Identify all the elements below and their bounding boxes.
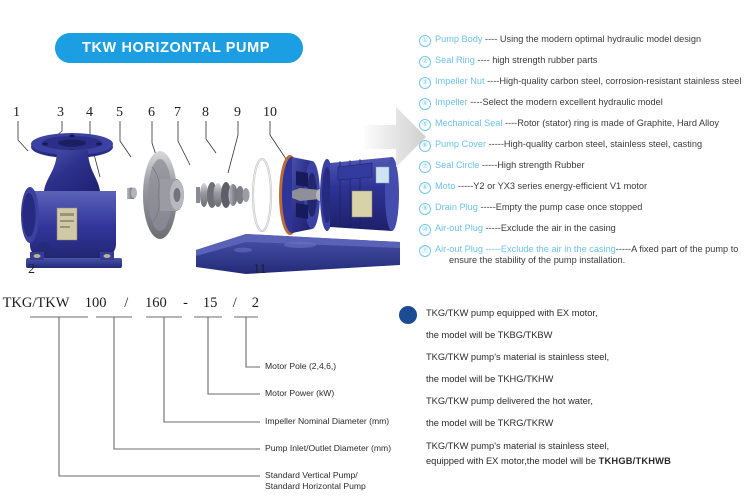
model-designation-block: TKG/TKW 100 / 160 - 15 / 2 [0, 295, 400, 500]
legend-dash-2: ----- [616, 244, 631, 254]
legend-desc: A fixed part of the pump to [631, 244, 738, 254]
legend-desc-blue: Exclude the air in the casing [501, 244, 616, 254]
legend-desc: Using the modern optimal hydraulic model… [500, 34, 701, 44]
model-label-standard-vertical: Standard Vertical Pump/ [265, 470, 358, 482]
exploded-pump-diagram: 1 3 4 5 6 7 8 9 10 2 11 [0, 95, 400, 290]
legend-desc: Y2 or YX3 series energy-efficient V1 mot… [473, 181, 647, 191]
legend-dash: ---- [483, 34, 500, 44]
note-line-5: TKG/TKW pump delivered the hot water, [426, 390, 756, 412]
legend-item-2: ② Seal Ring ---- high strength rubber pa… [419, 55, 756, 76]
legend-item-3: ③ Impeller Nut ----High-quality carbon s… [419, 76, 756, 97]
legend-desc: Exclude the air in the casing [501, 223, 616, 233]
legend-dash: ----- [483, 223, 501, 233]
model-variant-notes: TKG/TKW pump equipped with EX motor, the… [399, 302, 756, 469]
callout-3: 3 [57, 106, 64, 120]
legend-dash: ----- [479, 160, 497, 170]
callout-7: 7 [174, 106, 181, 120]
bullet-dot-icon [399, 306, 417, 324]
model-label-inlet-outlet: Pump Inlet/Outlet Diameter (mm) [265, 443, 391, 455]
legend-number-icon: ⑤ [419, 119, 431, 131]
callout-6: 6 [148, 106, 155, 120]
legend-number-icon: ⑧ [419, 182, 431, 194]
legend-label: Drain Plug [435, 202, 478, 212]
legend-label: Impeller Nut [435, 76, 485, 86]
callout-1: 1 [13, 106, 20, 120]
legend-item-4: ④ Impeller ----Select the modern excelle… [419, 97, 756, 118]
note-line-2: the model will be TKBG/TKBW [426, 324, 756, 346]
legend-label: Moto [435, 181, 455, 191]
note-line-4: the model will be TKHG/TKHW [426, 368, 756, 390]
callout-4: 4 [86, 106, 93, 120]
legend-item-6: ⑥ Pump Cover -----High-quality carbon st… [419, 139, 756, 160]
note-line-3: TKG/TKW pump's material is stainless ste… [426, 346, 756, 368]
legend-item-10: ⑩ Air-out Plug -----Exclude the air in t… [419, 223, 756, 244]
legend-label: Pump Body [435, 34, 483, 44]
legend-label: Impeller [435, 97, 468, 107]
legend-desc: High-quality carbon steel, stainless ste… [504, 139, 702, 149]
legend-number-icon: ③ [419, 77, 431, 89]
legend-number-icon: ① [419, 35, 431, 47]
legend-item-9: ⑨ Drain Plug -----Empty the pump case on… [419, 202, 756, 223]
callout-2: 2 [28, 263, 35, 277]
legend-desc: Select the modern excellent hydraulic mo… [482, 97, 662, 107]
legend-number-icon: ⑪ [419, 245, 431, 257]
legend-dash: ----- [486, 139, 504, 149]
legend-desc: Rotor (stator) ring is made of Graphite,… [517, 118, 719, 128]
legend-dash: ---- [485, 76, 500, 86]
note-line-6: the model will be TKRG/TKRW [426, 412, 756, 434]
legend-item-7: ⑦ Seal Circle -----High strength Rubber [419, 160, 756, 181]
callout-9: 9 [234, 106, 241, 120]
callout-5: 5 [116, 106, 123, 120]
note-line-8: equipped with EX motor,the model will be… [426, 454, 756, 469]
legend-label: Air-out Plug [435, 244, 483, 254]
legend-desc-line2: ensure the stability of the pump install… [449, 255, 738, 265]
legend-label: Seal Ring [435, 55, 475, 65]
legend-desc: High-quality carbon steel, corrosion-res… [499, 76, 741, 86]
page-title-banner: TKW HORIZONTAL PUMP [55, 33, 303, 63]
legend-dash: ---- [468, 97, 483, 107]
legend-number-icon: ② [419, 56, 431, 68]
page-title: TKW HORIZONTAL PUMP [82, 40, 270, 56]
legend-number-icon: ④ [419, 98, 431, 110]
legend-number-icon: ⑥ [419, 140, 431, 152]
model-label-impeller-diameter: Impeller Nominal Diameter (mm) [265, 416, 389, 428]
legend-label: Air-out Plug [435, 223, 483, 233]
note-final-model: TKHGB/TKHWB [599, 456, 671, 466]
legend-number-icon: ⑨ [419, 203, 431, 215]
legend-item-5: ⑤ Mechanical Seal ----Rotor (stator) rin… [419, 118, 756, 139]
note-line-1: TKG/TKW pump equipped with EX motor, [426, 302, 756, 324]
legend-item-11: ⑪ Air-out Plug -----Exclude the air in t… [419, 244, 756, 276]
legend-dash: ----- [455, 181, 473, 191]
legend-label: Seal Circle [435, 160, 479, 170]
page-root: TKW HORIZONTAL PUMP [0, 0, 756, 500]
legend-dash: ----- [478, 202, 496, 212]
legend-number-icon: ⑦ [419, 161, 431, 173]
legend-item-1: ① Pump Body ---- Using the modern optima… [419, 34, 756, 55]
model-label-power: Motor Power (kW) [265, 388, 334, 400]
note-line-7: TKG/TKW pump's material is stainless ste… [426, 439, 756, 454]
model-label-pole: Motor Pole (2,4,6,) [265, 361, 336, 373]
legend-item-8: ⑧ Moto -----Y2 or YX3 series energy-effi… [419, 181, 756, 202]
legend-desc: Empty the pump case once stopped [496, 202, 643, 212]
note-final-prefix: equipped with EX motor,the model will be [426, 456, 599, 466]
callout-11: 11 [253, 263, 266, 277]
component-legend: ① Pump Body ---- Using the modern optima… [419, 34, 756, 276]
legend-dash: ----- [483, 244, 501, 254]
legend-number-icon: ⑩ [419, 224, 431, 236]
legend-dash: ---- [475, 55, 492, 65]
legend-label: Pump Cover [435, 139, 486, 149]
legend-desc: high strength rubber parts [492, 55, 597, 65]
legend-desc: High strength Rubber [497, 160, 584, 170]
callout-8: 8 [202, 106, 209, 120]
legend-label: Mechanical Seal [435, 118, 502, 128]
model-label-standard-horizontal: Standard Horizontal Pump [265, 481, 366, 493]
callout-10: 10 [263, 106, 277, 120]
legend-dash: ---- [502, 118, 517, 128]
